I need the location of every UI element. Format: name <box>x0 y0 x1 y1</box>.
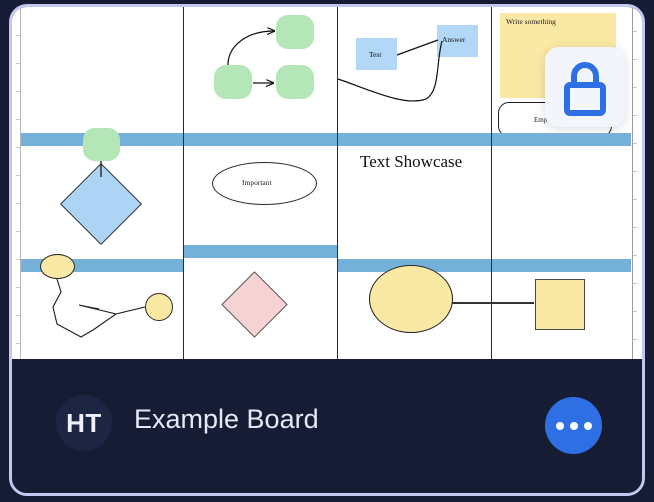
more-dot-3 <box>584 422 592 430</box>
shape-yellow-ellipse-small-overlap[interactable] <box>40 254 75 279</box>
more-options-button[interactable] <box>545 397 602 454</box>
lock-card[interactable] <box>545 47 625 127</box>
shape-green-rect-left[interactable] <box>214 65 252 99</box>
shape-yellow-circle[interactable] <box>145 293 173 321</box>
panel-scrollbar-col4-row1[interactable] <box>492 133 631 146</box>
panel-scrollbar-col4-row2[interactable] <box>492 259 631 272</box>
test-box-label: Test <box>369 50 381 59</box>
shape-yellow-big-ellipse-overlap[interactable] <box>369 265 453 333</box>
sticky-note-text: Write something <box>506 17 556 26</box>
board-window-frame: Important Test Answer Text Showcase <box>9 4 645 496</box>
answer-box-label: Answer <box>442 35 465 44</box>
shape-blue-diamond[interactable] <box>60 163 142 245</box>
app-root: Important Test Answer Text Showcase <box>0 0 654 502</box>
panel-col1[interactable] <box>21 7 183 359</box>
panel-scrollbar-col3-row1[interactable] <box>338 133 491 146</box>
shape-pink-diamond[interactable] <box>221 271 287 337</box>
avatar: HT <box>56 395 112 451</box>
shape-green-rect-right[interactable] <box>276 65 314 99</box>
vertical-ruler-right <box>632 7 642 359</box>
panel-col2[interactable]: Important <box>184 7 337 359</box>
page-title: Example Board <box>134 404 319 435</box>
shape-yellow-square[interactable] <box>535 279 585 330</box>
more-dot-2 <box>570 422 578 430</box>
text-showcase-label: Text Showcase <box>360 152 462 172</box>
panel-scrollbar-col2-row1[interactable] <box>184 133 337 146</box>
more-dot-1 <box>556 422 564 430</box>
board-grid: Important Test Answer Text Showcase <box>21 7 632 359</box>
shape-green-rect-top[interactable] <box>276 15 314 49</box>
shape-green-rounded-rect-overlap[interactable] <box>83 128 120 161</box>
panel-scrollbar-col2-row2[interactable] <box>184 245 337 258</box>
whiteboard-canvas[interactable]: Important Test Answer Text Showcase <box>12 7 642 359</box>
important-ellipse-label: Important <box>242 178 272 187</box>
board-footer: HT Example Board <box>12 359 642 496</box>
lock-icon <box>545 47 625 127</box>
vertical-ruler-left <box>12 7 21 359</box>
panel-col4[interactable]: Write something Emp <box>492 7 631 359</box>
